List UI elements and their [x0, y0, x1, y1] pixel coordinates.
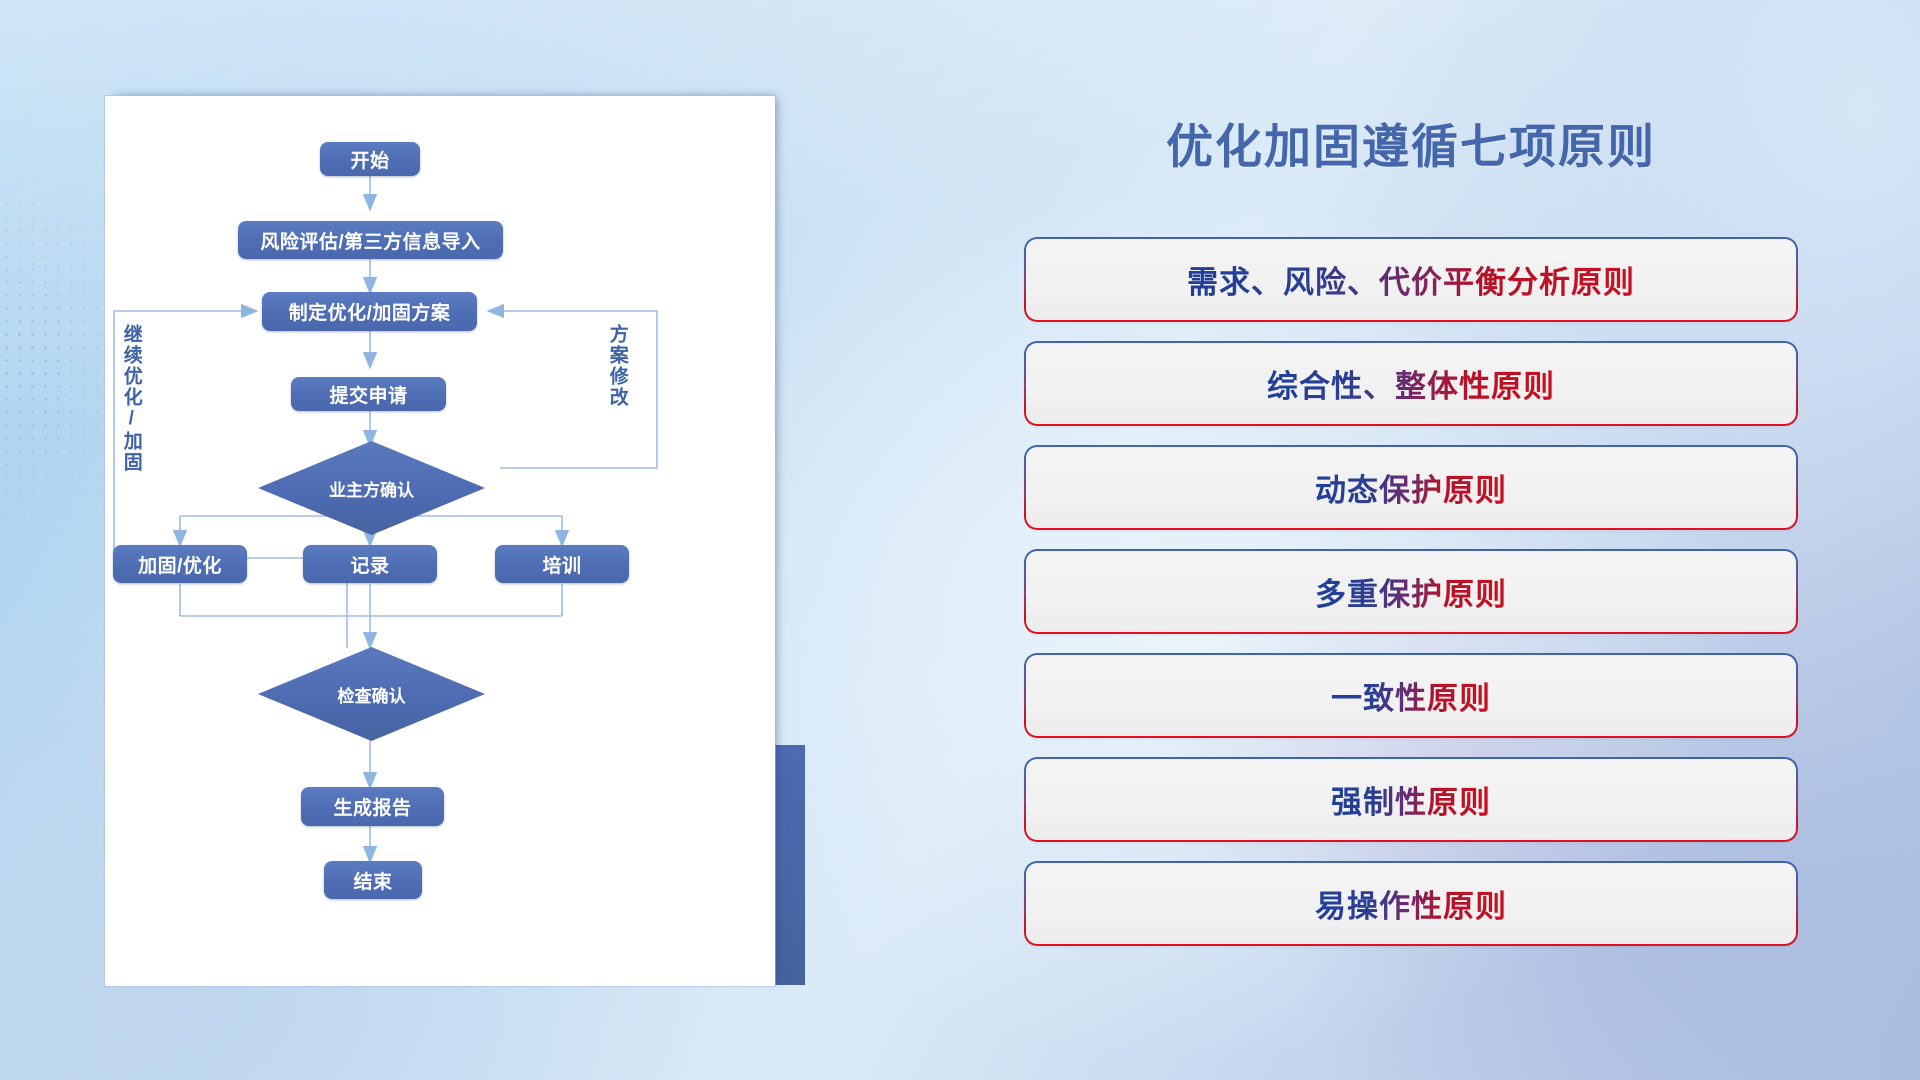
- flow-node-submit-application: 提交申请: [291, 377, 446, 411]
- principles-list: 需求、风险、代价平衡分析原则 综合性、整体性原则 动态保护原则 多重保护原则 一…: [1026, 239, 1796, 967]
- principle-item[interactable]: 需求、风险、代价平衡分析原则: [1026, 239, 1796, 320]
- principle-label: 多重保护原则: [1315, 569, 1507, 614]
- flow-node-label: 培训: [542, 551, 581, 578]
- principles-panel-title: 优化加固遵循七项原则: [1026, 108, 1796, 177]
- flow-node-label: 风险评估/第三方信息导入: [260, 227, 480, 254]
- flow-edge-label-continue-optimize: 继续优化/加固: [121, 324, 141, 473]
- flow-node-label: 提交申请: [329, 381, 407, 408]
- flow-node-label: 检查确认: [338, 682, 406, 707]
- principle-label: 强制性原则: [1331, 777, 1491, 822]
- flow-node-label: 开始: [350, 146, 389, 173]
- flow-node-end: 结束: [324, 861, 422, 899]
- flow-node-training: 培训: [495, 545, 629, 583]
- principle-label: 需求、风险、代价平衡分析原则: [1187, 257, 1635, 302]
- flow-node-label: 记录: [350, 551, 389, 578]
- flow-node-reinforce: 加固/优化: [113, 545, 247, 583]
- flow-node-label: 生成报告: [333, 793, 411, 820]
- flow-edge-label-plan-revision: 方案修改: [607, 324, 627, 408]
- principle-item[interactable]: 易操作性原则: [1026, 863, 1796, 944]
- flow-node-record: 记录: [303, 545, 437, 583]
- flow-node-start: 开始: [320, 142, 420, 176]
- flow-node-plan: 制定优化/加固方案: [262, 292, 477, 331]
- flow-node-label: 制定优化/加固方案: [289, 298, 451, 325]
- flow-decision-owner-confirm: 业主方确认: [258, 441, 485, 535]
- principle-label: 综合性、整体性原则: [1267, 361, 1555, 406]
- principle-label: 易操作性原则: [1315, 881, 1507, 926]
- flow-decision-inspection-confirm: 检查确认: [258, 647, 485, 741]
- flow-node-generate-report: 生成报告: [301, 787, 444, 826]
- principle-item[interactable]: 多重保护原则: [1026, 551, 1796, 632]
- principle-item[interactable]: 一致性原则: [1026, 655, 1796, 736]
- principle-label: 动态保护原则: [1315, 465, 1507, 510]
- principle-item[interactable]: 动态保护原则: [1026, 447, 1796, 528]
- flow-node-label: 结束: [353, 867, 392, 894]
- principle-label: 一致性原则: [1331, 673, 1491, 718]
- flow-node-label: 业主方确认: [329, 476, 414, 501]
- flowchart-card: 开始 风险评估/第三方信息导入 制定优化/加固方案 提交申请 业主方确认 加固/…: [105, 96, 775, 986]
- flow-node-risk-assessment: 风险评估/第三方信息导入: [238, 221, 503, 259]
- principle-item[interactable]: 综合性、整体性原则: [1026, 343, 1796, 424]
- principle-item[interactable]: 强制性原则: [1026, 759, 1796, 840]
- flow-node-label: 加固/优化: [138, 551, 222, 578]
